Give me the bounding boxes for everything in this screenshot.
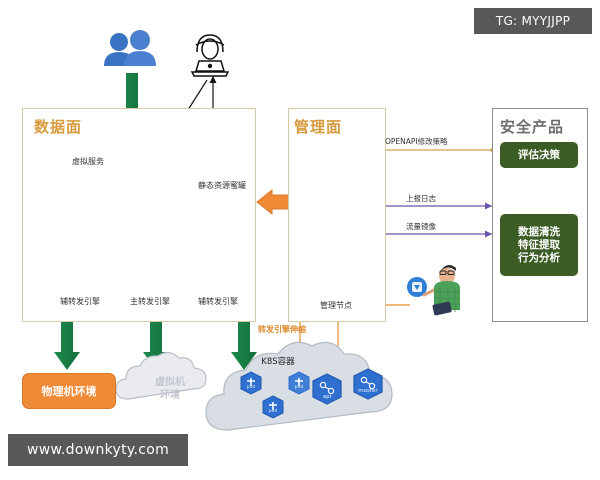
label-virtual-service: 虚拟服务 [62,156,114,167]
k8s-master-label: master [354,388,382,394]
orange-left-arrow [257,190,290,214]
env-virtual-machine: 虚拟机 环境 [128,369,212,409]
analysis-line-2: 特征提取 [518,239,560,252]
flow-label-traffic-mirror: 流量镜像 [406,221,436,232]
k8s-pod-2 [289,372,309,394]
label-aux-engine-left: 辅转发引擎 [48,296,112,307]
k8s-pod-label-2: pod [287,385,311,390]
label-management-node: 管理节点 [300,300,372,311]
k8s-api-label: api [315,394,339,400]
flow-label-openapi: OPENAPI修改策略 [385,136,448,147]
green-arrow-to-physical [54,319,80,370]
panel-control-plane [288,108,386,322]
panel-control-plane-title: 管理面 [294,116,342,137]
site-watermark: www.downkyty.com [8,434,188,466]
panel-data-plane [22,108,256,322]
env-k8s-label: K8S容器 [248,355,308,367]
panel-security-product-title: 安全产品 [500,116,564,137]
security-box-analysis: 数据清洗 特征提取 行为分析 [500,214,578,276]
operator-person-icon [407,265,460,316]
k8s-pod-label-1: pod [239,385,263,390]
flow-label-engine-scaling: 转发引擎伸缩 [258,324,306,335]
two-users-icon [104,30,156,66]
analysis-line-1: 数据清洗 [518,226,560,239]
security-box-assessment: 评估决策 [500,142,578,168]
env-vm-line-1: 虚拟机 [155,376,185,389]
label-aux-engine-right: 辅转发引擎 [186,296,250,307]
k8s-pod-1 [241,372,261,394]
k8s-master-node [354,369,382,399]
diagram-canvas: @ [0,0,600,480]
flow-label-report-log: 上报日志 [406,193,436,204]
label-static-honeypot: 静态资源蜜罐 [186,180,258,191]
k8s-pod-label-3: pod [261,409,285,414]
panel-data-plane-title: 数据面 [34,116,82,137]
analysis-line-3: 行为分析 [518,252,560,265]
hacker-laptop-icon [192,35,228,76]
green-arrow-to-vm [143,319,169,370]
k8s-pod-3 [263,396,283,418]
label-main-engine: 主转发引擎 [118,296,182,307]
env-physical-machine: 物理机环境 [22,373,116,409]
tg-tag-overlay: TG: MYYJJPP [474,8,592,34]
env-vm-line-2: 环境 [160,389,180,402]
